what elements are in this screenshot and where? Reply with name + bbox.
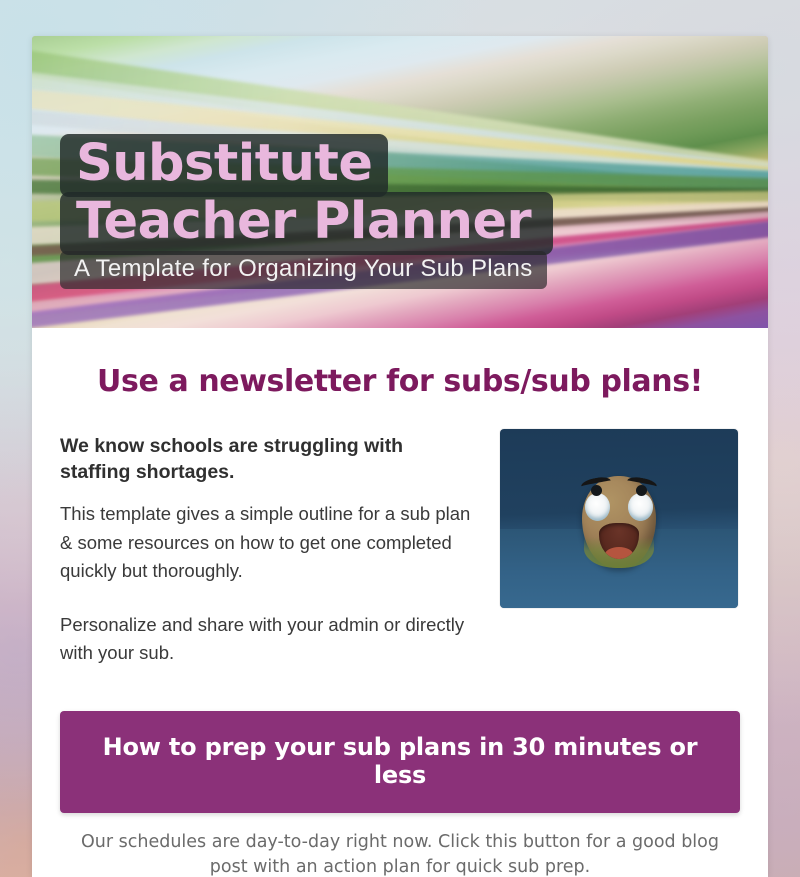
cta-section: How to prep your sub plans in 30 minutes…: [32, 711, 768, 877]
shocked-face-icon: [582, 476, 656, 568]
email-card: Substitute Teacher Planner A Template fo…: [32, 36, 768, 877]
body-paragraph-1: This template gives a simple outline for…: [60, 500, 478, 584]
body-row: We know schools are struggling with staf…: [60, 429, 740, 667]
banner-hero: Substitute Teacher Planner A Template fo…: [32, 36, 768, 328]
body-paragraph-2: Personalize and share with your admin or…: [60, 611, 478, 667]
banner-title-line-2: Teacher Planner: [60, 192, 553, 255]
content-area: Use a newsletter for subs/sub plans! We …: [32, 328, 768, 667]
banner-subtitle: A Template for Organizing Your Sub Plans: [60, 251, 547, 289]
eye-right-icon: [628, 493, 653, 521]
cta-caption: Our schedules are day-to-day right now. …: [60, 830, 740, 877]
body-text-column: We know schools are struggling with staf…: [60, 429, 478, 667]
eye-left-icon: [585, 493, 610, 521]
lead-paragraph: We know schools are struggling with staf…: [60, 434, 478, 485]
pupil-left-icon: [591, 485, 602, 496]
banner-title-line-1: Substitute: [60, 134, 388, 197]
banner-title-block: Substitute Teacher Planner A Template fo…: [60, 134, 768, 289]
pupil-right-icon: [636, 485, 647, 496]
tongue-icon: [605, 547, 633, 559]
sub-plans-cta-button[interactable]: How to prep your sub plans in 30 minutes…: [60, 711, 740, 813]
shocked-face-image: [500, 429, 738, 608]
section-heading: Use a newsletter for subs/sub plans!: [60, 364, 740, 399]
